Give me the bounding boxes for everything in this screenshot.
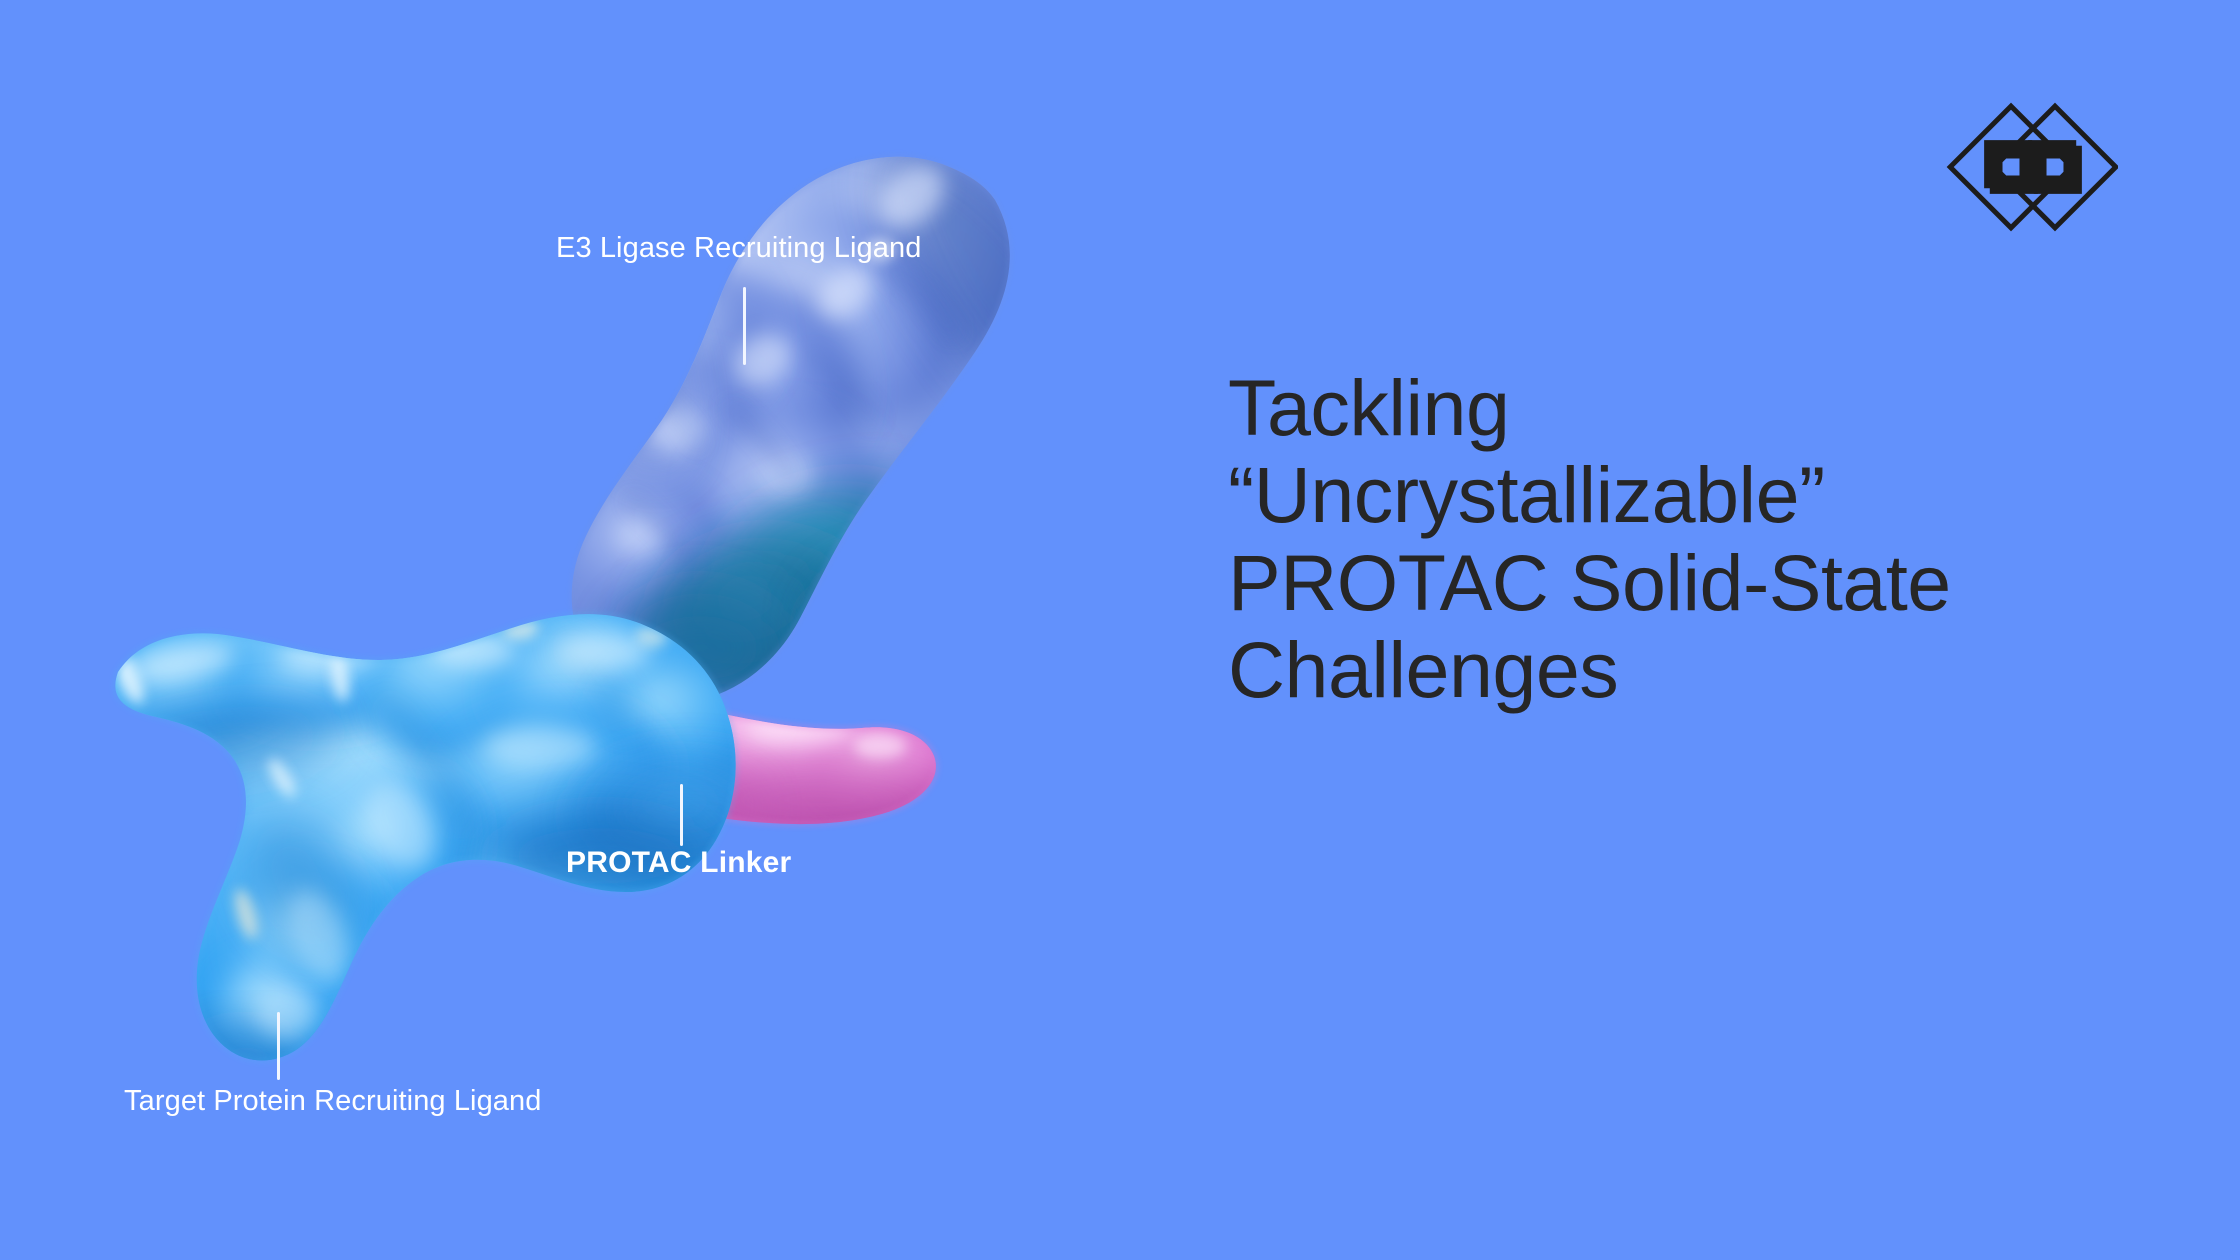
slide-headline: Tackling “Uncrystallizable” PROTAC Solid… xyxy=(1228,364,2158,713)
callout-label-e3-ligase-recruiting-ligand: E3 Ligase Recruiting Ligand xyxy=(556,234,921,263)
slide-canvas: E3 Ligase Recruiting Ligand PROTAC Linke… xyxy=(0,0,2240,1260)
leader-line-protac-linker xyxy=(680,784,683,846)
target-protein-ligand-surface xyxy=(100,600,800,1086)
protac-molecule-figure xyxy=(0,0,1200,1260)
callout-label-target-protein-recruiting-ligand: Target Protein Recruiting Ligand xyxy=(124,1087,542,1116)
leader-line-e3-ligand xyxy=(743,287,746,365)
leader-line-target-ligand xyxy=(277,1012,280,1080)
callout-label-protac-linker: PROTAC Linker xyxy=(566,848,791,878)
brand-logo xyxy=(1946,98,2118,240)
